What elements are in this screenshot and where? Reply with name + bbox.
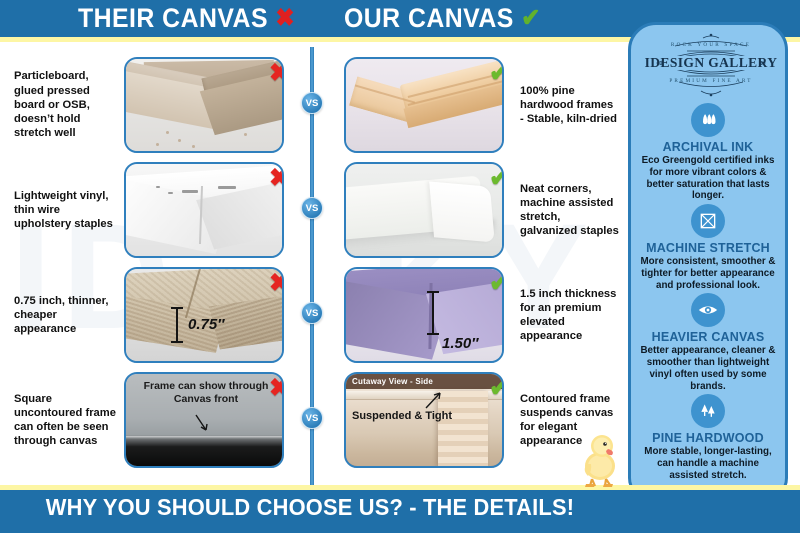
feature-title: PINE HARDWOOD	[639, 431, 777, 445]
vs-badge: VS	[301, 197, 323, 219]
infographic-canvas-comparison: ID KY THEIR CANVAS ✖ OUR CANVAS ✔ Partic…	[0, 0, 800, 533]
brand-logo: IDESIGN GALLERY ROCK YOUR SPACE PREMIUM …	[631, 25, 785, 101]
row-left-label: Square uncontoured frame can often be se…	[14, 392, 118, 449]
feature-title: MACHINE STRETCH	[639, 241, 777, 255]
header-their-label: THEIR CANVAS	[78, 3, 268, 33]
header-our-canvas: OUR CANVAS ✔	[344, 3, 541, 34]
photo-overlay-caption: Suspended & Tight	[352, 410, 452, 422]
stretch-frame-icon	[691, 204, 725, 238]
row-left-label: 0.75 inch, thinner, cheaper appearance	[14, 294, 118, 337]
frame-show-through-photo: Frame can show through Canvas front ✖	[124, 372, 284, 468]
brand-panel: IDESIGN GALLERY ROCK YOUR SPACE PREMIUM …	[628, 22, 788, 500]
x-mark-icon: ✖	[269, 166, 284, 191]
particleboard-frame-corner-photo: ✖	[124, 57, 284, 153]
vs-badge: VS	[301, 407, 323, 429]
duckling-illustration	[578, 430, 624, 488]
footer-headline: WHY YOU SHOULD CHOOSE US? - THE DETAILS!	[16, 494, 605, 521]
check-mark-icon: ✔	[489, 166, 504, 191]
feature-heavier-canvas: HEAVIER CANVAS Better appearance, cleane…	[631, 293, 785, 392]
check-mark-icon: ✔	[489, 271, 504, 296]
footer-bar: WHY YOU SHOULD CHOOSE US? - THE DETAILS!	[0, 485, 800, 533]
x-mark-icon: ✖	[275, 4, 295, 32]
feature-desc: Better appearance, cleaner & smoother th…	[639, 345, 777, 392]
feature-title: HEAVIER CANVAS	[639, 330, 777, 344]
brand-tagline-top: ROCK YOUR SPACE	[671, 42, 751, 48]
vs-badge: VS	[301, 302, 323, 324]
check-mark-icon: ✔	[489, 376, 504, 401]
cutaway-side-view-photo: Cutaway View - Side Suspended & Tight ✔	[344, 372, 504, 468]
x-mark-icon: ✖	[269, 271, 284, 296]
dimension-label: 0.75″	[188, 316, 224, 333]
white-vinyl-corner-photo: ✖	[124, 162, 284, 258]
purple-canvas-thickness-photo: 1.50″ ✔	[344, 267, 504, 363]
x-mark-icon: ✖	[269, 61, 284, 86]
arrow-up-right-icon	[424, 390, 444, 410]
row-right-text: 100% pine hardwood frames - Stable, kiln…	[520, 53, 620, 157]
feature-title: ARCHIVAL INK	[639, 140, 777, 154]
vs-badge: VS	[301, 92, 323, 114]
row-left-text: Particleboard, glued pressed board or OS…	[14, 53, 118, 157]
cutaway-view-badge: Cutaway View - Side	[352, 377, 433, 386]
footer-accent-line	[0, 485, 800, 490]
feature-desc: Eco Greengold certified inks for more vi…	[639, 155, 777, 202]
pine-hardwood-frame-corner-photo: ✔	[344, 57, 504, 153]
row-left-text: Lightweight vinyl, thin wire upholstery …	[14, 158, 118, 262]
row-left-text: 0.75 inch, thinner, cheaper appearance	[14, 263, 118, 367]
row-left-label: Particleboard, glued pressed board or OS…	[14, 69, 118, 140]
feature-desc: More consistent, smoother & tighter for …	[639, 256, 777, 291]
neat-white-corner-photo: ✔	[344, 162, 504, 258]
feature-desc: More stable, longer-lasting, can handle …	[639, 446, 777, 481]
vs-separator: VS	[305, 368, 319, 472]
comparison-row: Particleboard, glued pressed board or OS…	[0, 53, 620, 157]
particleboard-thickness-photo: 0.75″ ✖	[124, 267, 284, 363]
dimension-label: 1.50″	[442, 335, 478, 352]
ink-drops-icon	[691, 103, 725, 137]
photo-overlay-caption: Frame can show through Canvas front	[126, 380, 284, 406]
arrow-down-icon	[194, 414, 210, 434]
row-right-label: 1.5 inch thickness for an premium elevat…	[520, 287, 620, 344]
row-right-label: 100% pine hardwood frames - Stable, kiln…	[520, 84, 620, 127]
feature-pine-hardwood: PINE HARDWOOD More stable, longer-lastin…	[631, 394, 785, 481]
feature-machine-stretch: MACHINE STRETCH More consistent, smoothe…	[631, 204, 785, 291]
vs-separator: VS	[305, 158, 319, 262]
row-right-label: Neat corners, machine assisted stretch, …	[520, 182, 620, 239]
comparison-row: Square uncontoured frame can often be se…	[0, 368, 620, 472]
row-left-text: Square uncontoured frame can often be se…	[14, 368, 118, 472]
eye-icon	[691, 293, 725, 327]
brand-name: IDESIGN GALLERY	[645, 55, 778, 70]
feature-archival-ink: ARCHIVAL INK Eco Greengold certified ink…	[631, 103, 785, 202]
check-mark-icon: ✔	[521, 4, 541, 32]
row-right-text: 1.5 inch thickness for an premium elevat…	[520, 263, 620, 367]
vs-separator: VS	[305, 263, 319, 367]
vs-separator: VS	[305, 53, 319, 157]
idesign-gallery-emblem: IDESIGN GALLERY ROCK YOUR SPACE PREMIUM …	[631, 29, 788, 105]
comparison-row: Lightweight vinyl, thin wire upholstery …	[0, 158, 620, 262]
row-right-text: Neat corners, machine assisted stretch, …	[520, 158, 620, 262]
pine-trees-icon	[691, 394, 725, 428]
comparison-grid: Particleboard, glued pressed board or OS…	[0, 47, 620, 485]
header-our-label: OUR CANVAS	[344, 3, 514, 33]
x-mark-icon: ✖	[269, 376, 284, 401]
row-left-label: Lightweight vinyl, thin wire upholstery …	[14, 189, 118, 232]
brand-tagline-bottom: PREMIUM FINE ART	[669, 78, 752, 84]
comparison-row: 0.75 inch, thinner, cheaper appearance 0…	[0, 263, 620, 367]
header-their-canvas: THEIR CANVAS ✖	[78, 3, 295, 34]
check-mark-icon: ✔	[489, 61, 504, 86]
